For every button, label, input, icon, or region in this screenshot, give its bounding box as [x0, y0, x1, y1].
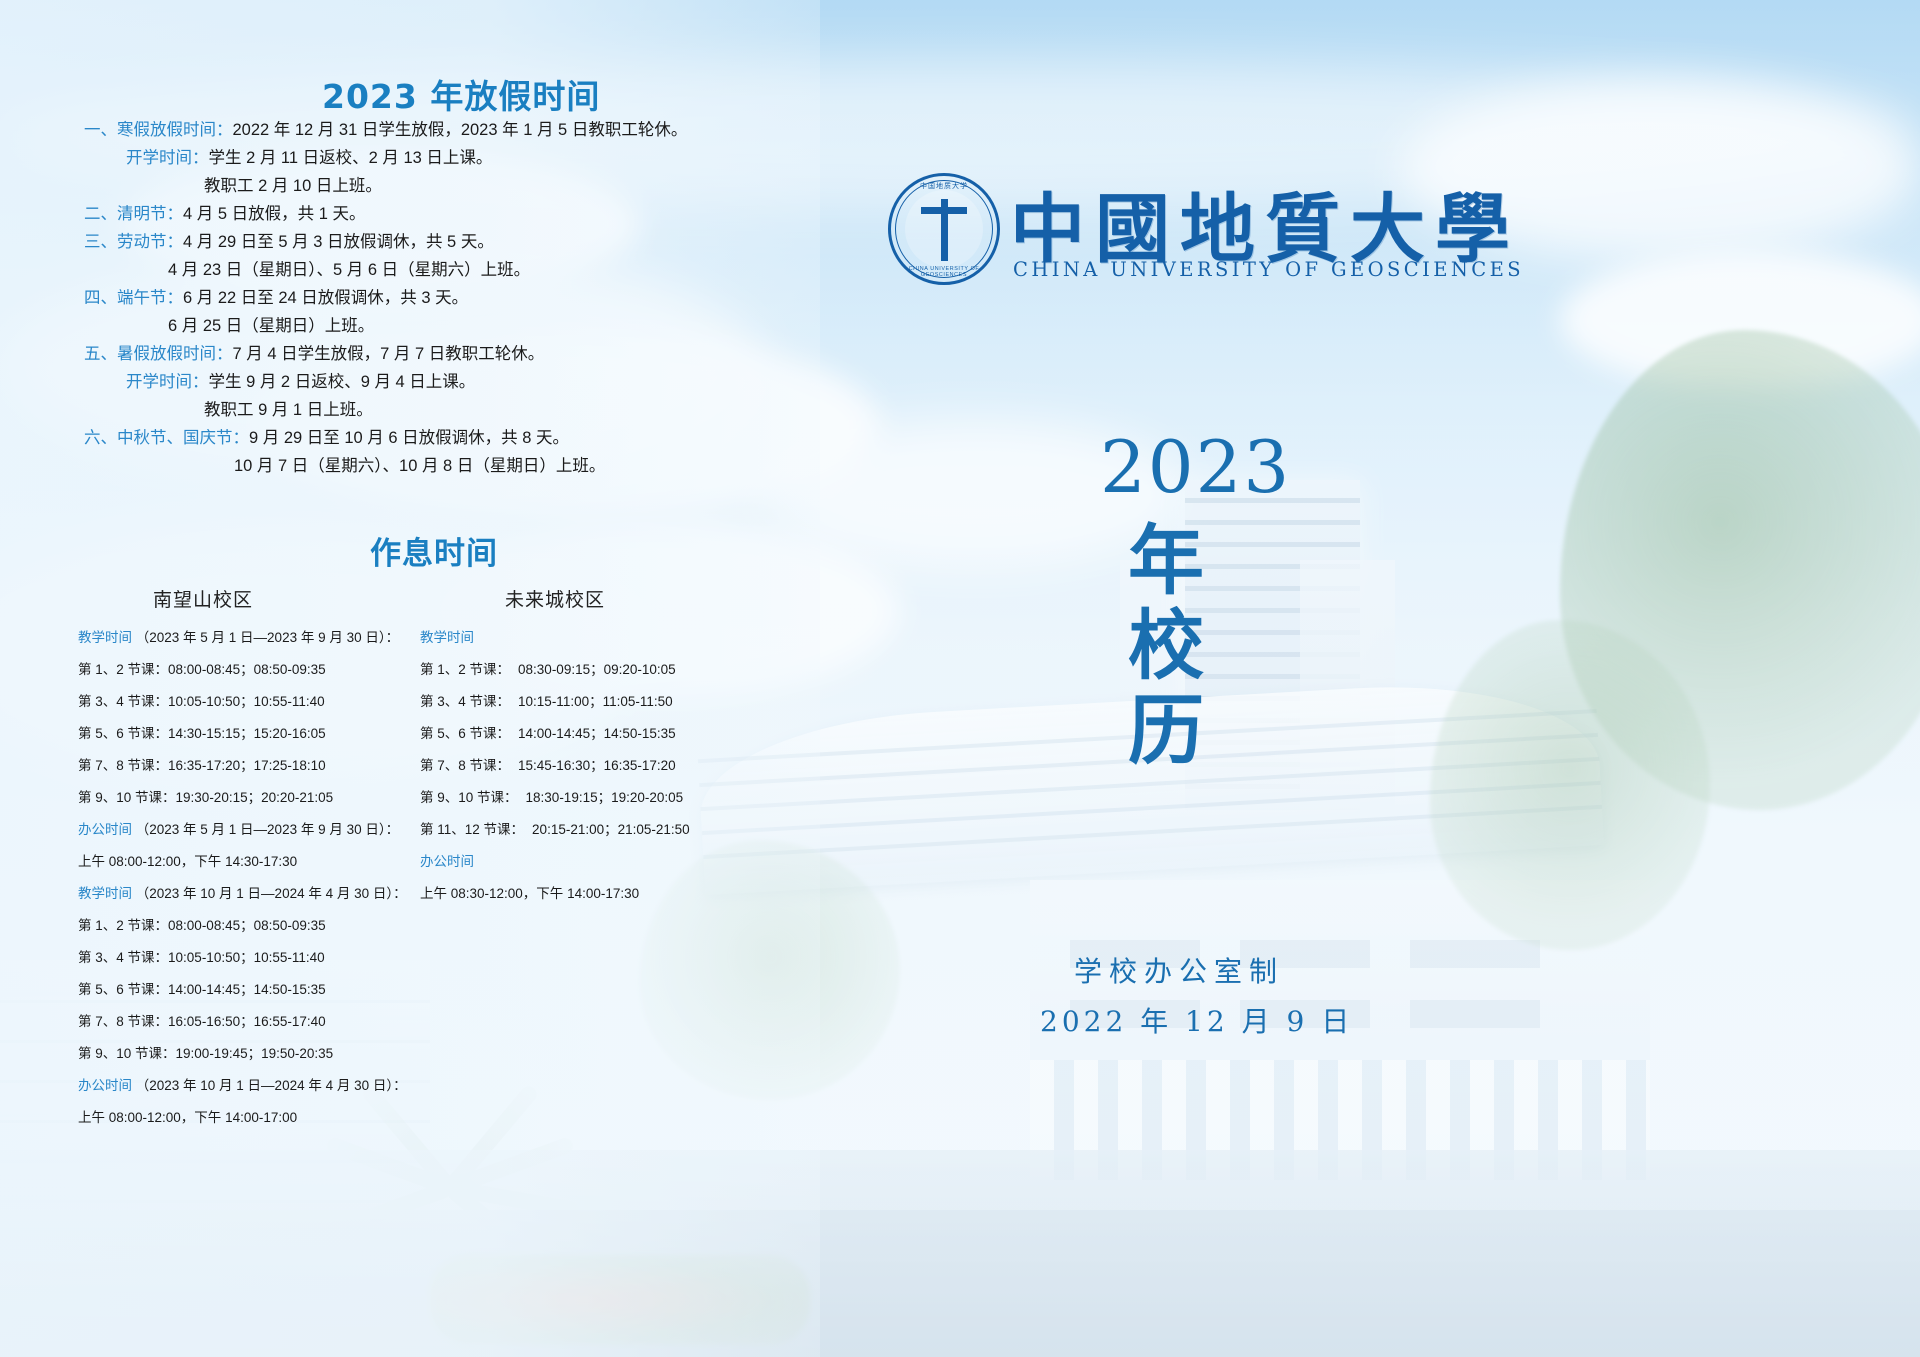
schedule-row-period: 上午 08:00-12:00，下午 14:00-17:00	[78, 1110, 297, 1125]
schedule-row: 第 7、8 节课： 16:35-17:20；17:25-18:10	[78, 754, 408, 774]
schedule-row-period: 第 1、2 节课：	[78, 918, 168, 933]
schedule-row: 第 5、6 节课： 14:00-14:45；14:50-15:35	[78, 978, 408, 998]
holiday-item-text: 4 月 5 日放假，共 1 天。	[183, 205, 365, 223]
schedule-row-time: 16:05-16:50；16:55-17:40	[168, 1010, 326, 1030]
schedule-group-heading: 教学时间 （2023 年 10 月 1 日—2024 年 4 月 30 日）：	[78, 882, 408, 902]
logo-arc-top-text: 中国地质大学	[888, 181, 1000, 191]
holiday-item-text: 教职工 9 月 1 日上班。	[204, 401, 373, 419]
schedule-row: 上午 08:00-12:00，下午 14:00-17:00	[78, 1106, 408, 1126]
schedule-row-time: 14:30-15:15；15:20-16:05	[168, 722, 326, 742]
holiday-item: 六、中秋节、国庆节：9 月 29 日至 10 月 6 日放假调休，共 8 天。	[84, 430, 784, 447]
campus-name: 未来城校区	[420, 585, 690, 612]
schedule-row-period: 第 7、8 节课：	[78, 758, 168, 773]
holiday-item-text: 2022 年 12 月 31 日学生放假，2023 年 1 月 5 日教职工轮休…	[233, 121, 688, 139]
schedule-row-period: 第 1、2 节课：	[420, 662, 510, 677]
schedule-row-period: 第 3、4 节课：	[78, 694, 168, 709]
schedule-group-heading: 办公时间 （2023 年 10 月 1 日—2024 年 4 月 30 日）：	[78, 1074, 408, 1094]
holiday-item-label: 五、暑假放假时间：	[84, 345, 233, 363]
schedule-group-range: （2023 年 10 月 1 日—2024 年 4 月 30 日）：	[132, 886, 407, 901]
holiday-item-text: 学生 2 月 11 日返校、2 月 13 日上课。	[209, 149, 493, 167]
schedule-row: 第 1、2 节课： 08:00-08:45；08:50-09:35	[78, 914, 408, 934]
schedule-section-title: 作息时间	[370, 528, 498, 573]
schedule-row: 第 5、6 节课： 14:00-14:45；14:50-15:35	[420, 722, 750, 742]
schedule-row-period: 第 3、4 节课：	[420, 694, 510, 709]
schedule-row-time: 20:15-21:00；21:05-21:50	[532, 818, 690, 838]
schedule-group-label: 办公时间	[420, 854, 474, 869]
schedule-group-heading: 教学时间	[420, 626, 750, 646]
holiday-item-label: 四、端午节：	[84, 289, 183, 307]
logo-hammer-head-icon	[921, 207, 967, 214]
schedule-group-range: （2023 年 5 月 1 日—2023 年 9 月 30 日）：	[132, 630, 399, 645]
schedule-row: 第 9、10 节课： 18:30-19:15；19:20-20:05	[420, 786, 750, 806]
schedule-group-heading: 办公时间 （2023 年 5 月 1 日—2023 年 9 月 30 日）：	[78, 818, 408, 838]
schedule-row-time: 08:00-08:45；08:50-09:35	[168, 914, 326, 934]
university-logo: 中国地质大学 CHINA UNIVERSITY OF GEOSCIENCES	[888, 173, 1000, 285]
schedule-row-period: 第 5、6 节课：	[78, 726, 168, 741]
logo-arc-bottom-text: CHINA UNIVERSITY OF GEOSCIENCES	[888, 266, 1000, 278]
schedule-group-heading: 教学时间 （2023 年 5 月 1 日—2023 年 9 月 30 日）：	[78, 626, 408, 646]
holiday-item: 五、暑假放假时间：7 月 4 日学生放假，7 月 7 日教职工轮休。	[84, 346, 784, 363]
holiday-list: 一、寒假放假时间：2022 年 12 月 31 日学生放假，2023 年 1 月…	[84, 122, 784, 486]
issuer-label: 学校办公室制	[1074, 950, 1284, 990]
schedule-row-period: 第 1、2 节课：	[78, 662, 168, 677]
schedule-row-time: 19:30-20:15；20:20-21:05	[176, 786, 334, 806]
holiday-item: 二、清明节：4 月 5 日放假，共 1 天。	[84, 206, 784, 223]
schedule-row-period: 第 5、6 节课：	[78, 982, 168, 997]
schedule-group-label: 办公时间	[78, 822, 132, 837]
schedule-row-time: 15:45-16:30；16:35-17:20	[518, 754, 676, 774]
calendar-vertical-title: 年校历	[1128, 518, 1204, 773]
schedule-row-period: 第 9、10 节课：	[420, 790, 518, 805]
schedule-row: 上午 08:30-12:00，下午 14:00-17:30	[420, 882, 750, 902]
holiday-item: 10 月 7 日（星期六）、10 月 8 日（星期日）上班。	[84, 458, 784, 475]
schedule-row: 上午 08:00-12:00，下午 14:30-17:30	[78, 850, 408, 870]
holiday-item: 三、劳动节：4 月 29 日至 5 月 3 日放假调休，共 5 天。	[84, 234, 784, 251]
schedule-row-period: 第 5、6 节课：	[420, 726, 510, 741]
holiday-item-text: 4 月 29 日至 5 月 3 日放假调休，共 5 天。	[183, 233, 494, 251]
holiday-item-text: 学生 9 月 2 日返校、9 月 4 日上课。	[209, 373, 476, 391]
holiday-item-text: 4 月 23 日（星期日）、5 月 6 日（星期六）上班。	[168, 261, 530, 279]
schedule-row: 第 1、2 节课： 08:00-08:45；08:50-09:35	[78, 658, 408, 678]
schedule-row-period: 第 7、8 节课：	[420, 758, 510, 773]
schedule-row: 第 7、8 节课： 16:05-16:50；16:55-17:40	[78, 1010, 408, 1030]
schedule-group-range: （2023 年 10 月 1 日—2024 年 4 月 30 日）：	[132, 1078, 407, 1093]
schedule-group-range: （2023 年 5 月 1 日—2023 年 9 月 30 日）：	[132, 822, 399, 837]
holiday-item-label: 三、劳动节：	[84, 233, 183, 251]
calendar-year: 2023	[1100, 425, 1291, 509]
holiday-item: 教职工 9 月 1 日上班。	[84, 402, 784, 419]
schedule-row-period: 第 9、10 节课：	[78, 1046, 176, 1061]
schedule-row-period: 第 9、10 节课：	[78, 790, 176, 805]
holiday-item-text: 7 月 4 日学生放假，7 月 7 日教职工轮休。	[233, 345, 545, 363]
campus-block-nanwangshan: 南望山校区教学时间 （2023 年 5 月 1 日—2023 年 9 月 30 …	[78, 585, 408, 1138]
calendar-vertical-char: 历	[1128, 688, 1204, 773]
schedule-row: 第 7、8 节课： 15:45-16:30；16:35-17:20	[420, 754, 750, 774]
schedule-group-label: 教学时间	[78, 630, 132, 645]
schedule-row: 第 11、12 节课： 20:15-21:00；21:05-21:50	[420, 818, 750, 838]
schedule-row-period: 第 7、8 节课：	[78, 1014, 168, 1029]
university-name-en: CHINA UNIVERSITY OF GEOSCIENCES	[1013, 258, 1524, 281]
holiday-item-label: 六、中秋节、国庆节：	[84, 429, 249, 447]
schedule-row: 第 3、4 节课： 10:15-11:00；11:05-11:50	[420, 690, 750, 710]
schedule-group-label: 办公时间	[78, 1078, 132, 1093]
holiday-item-label: 开学时间：	[126, 373, 209, 391]
calendar-vertical-char: 年	[1128, 518, 1204, 603]
campus-block-weilaicheng: 未来城校区教学时间第 1、2 节课： 08:30-09:15；09:20-10:…	[420, 585, 750, 914]
schedule-group-heading: 办公时间	[420, 850, 750, 870]
schedule-row-time: 16:35-17:20；17:25-18:10	[168, 754, 326, 774]
schedule-row-time: 08:30-09:15；09:20-10:05	[518, 658, 676, 678]
schedule-row-time: 10:15-11:00；11:05-11:50	[518, 690, 673, 710]
schedule-row-period: 第 11、12 节课：	[420, 822, 524, 837]
schedule-row-period: 第 3、4 节课：	[78, 950, 168, 965]
holiday-item: 6 月 25 日（星期日）上班。	[84, 318, 784, 335]
schedule-group-label: 教学时间	[78, 886, 132, 901]
holiday-item: 4 月 23 日（星期日）、5 月 6 日（星期六）上班。	[84, 262, 784, 279]
holiday-item-label: 二、清明节：	[84, 205, 183, 223]
schedule-row: 第 9、10 节课： 19:30-20:15；20:20-21:05	[78, 786, 408, 806]
schedule-row: 第 5、6 节课： 14:30-15:15；15:20-16:05	[78, 722, 408, 742]
schedule-row-time: 14:00-14:45；14:50-15:35	[518, 722, 676, 742]
holiday-section-title: 2023 年放假时间	[322, 70, 600, 118]
holiday-item: 一、寒假放假时间：2022 年 12 月 31 日学生放假，2023 年 1 月…	[84, 122, 784, 139]
schedule-row-time: 19:00-19:45；19:50-20:35	[176, 1042, 334, 1062]
schedule-row-time: 08:00-08:45；08:50-09:35	[168, 658, 326, 678]
schedule-row: 第 3、4 节课： 10:05-10:50；10:55-11:40	[78, 946, 408, 966]
schedule-row: 第 1、2 节课： 08:30-09:15；09:20-10:05	[420, 658, 750, 678]
calendar-vertical-char: 校	[1128, 603, 1204, 688]
schedule-row-period: 上午 08:30-12:00，下午 14:00-17:30	[420, 886, 639, 901]
holiday-item-text: 9 月 29 日至 10 月 6 日放假调休，共 8 天。	[249, 429, 569, 447]
schedule-row: 第 9、10 节课： 19:00-19:45；19:50-20:35	[78, 1042, 408, 1062]
campus-name: 南望山校区	[78, 585, 328, 612]
schedule-row-time: 10:05-10:50；10:55-11:40	[168, 690, 325, 710]
schedule-row-time: 18:30-19:15；19:20-20:05	[526, 786, 684, 806]
issue-date: 2022 年 12 月 9 日	[1040, 1000, 1353, 1040]
holiday-item: 四、端午节：6 月 22 日至 24 日放假调休，共 3 天。	[84, 290, 784, 307]
holiday-item-text: 教职工 2 月 10 日上班。	[204, 177, 382, 195]
holiday-item-label: 一、寒假放假时间：	[84, 121, 233, 139]
schedule-row-time: 14:00-14:45；14:50-15:35	[168, 978, 326, 998]
holiday-item: 开学时间：学生 9 月 2 日返校、9 月 4 日上课。	[84, 374, 784, 391]
schedule-row: 第 3、4 节课： 10:05-10:50；10:55-11:40	[78, 690, 408, 710]
holiday-item-text: 10 月 7 日（星期六）、10 月 8 日（星期日）上班。	[234, 457, 605, 475]
holiday-item: 教职工 2 月 10 日上班。	[84, 178, 784, 195]
schedule-group-label: 教学时间	[420, 630, 474, 645]
holiday-item-label: 开学时间：	[126, 149, 209, 167]
schedule-row-time: 10:05-10:50；10:55-11:40	[168, 946, 325, 966]
schedule-row-period: 上午 08:00-12:00，下午 14:30-17:30	[78, 854, 297, 869]
holiday-item: 开学时间：学生 2 月 11 日返校、2 月 13 日上课。	[84, 150, 784, 167]
holiday-item-text: 6 月 25 日（星期日）上班。	[168, 317, 374, 335]
holiday-item-text: 6 月 22 日至 24 日放假调休，共 3 天。	[183, 289, 468, 307]
